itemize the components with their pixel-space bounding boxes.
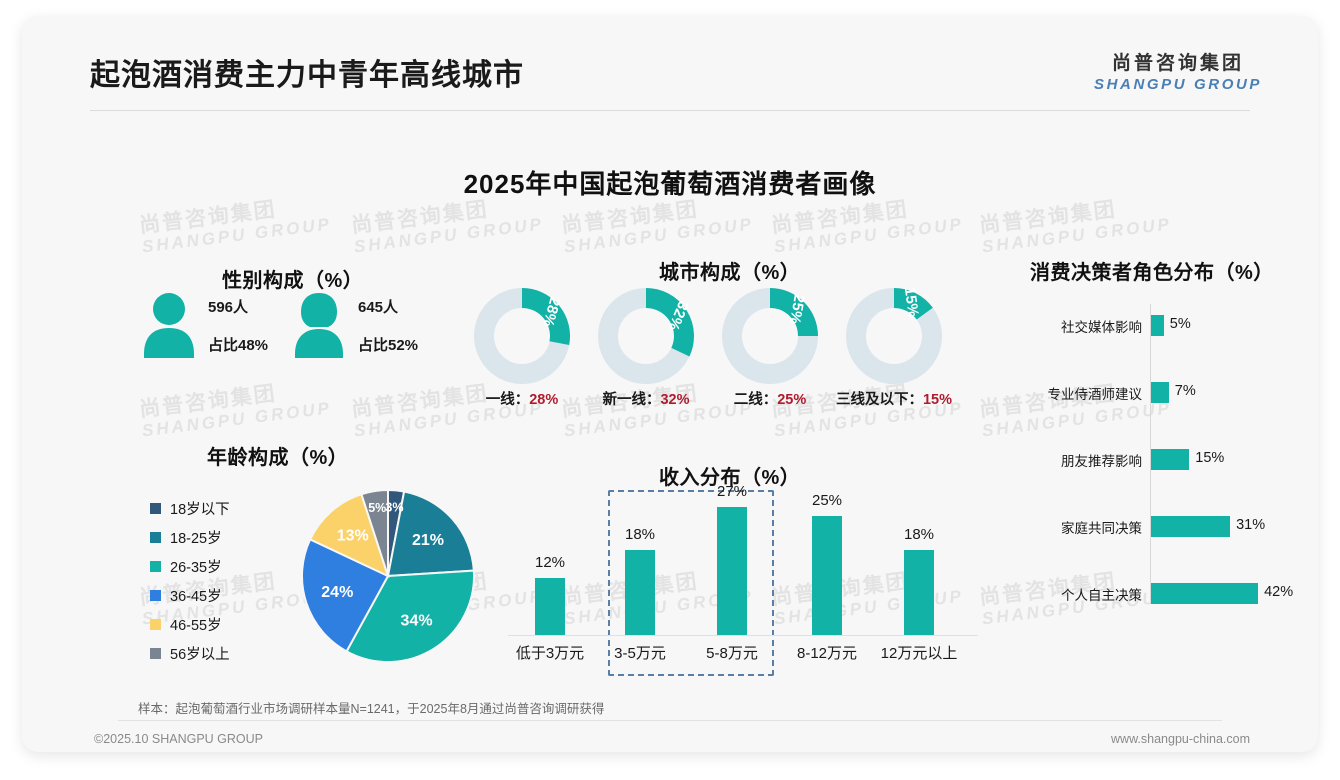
age-legend: 18岁以下18-25岁26-35岁36-45岁46-55岁56岁以上 <box>150 494 230 668</box>
gender-section: 596人 占比48% 645人 占比52% <box>122 254 462 374</box>
decision-label-3: 朋友推荐影响 <box>1061 450 1142 470</box>
slide-card: 尚普咨询集团SHANGPU GROUP尚普咨询集团SHANGPU GROUP尚普… <box>22 16 1318 752</box>
city-name: 三线及以下： <box>836 392 923 408</box>
legend-swatch-icon <box>150 503 161 514</box>
legend-swatch-icon <box>150 532 161 543</box>
gender-male-count: 596人 <box>208 296 268 317</box>
income-bar-1 <box>535 578 565 635</box>
pie-value-label-2: 21% <box>412 532 444 549</box>
income-value-label-4: 25% <box>812 492 842 509</box>
income-value-label-2: 18% <box>625 526 655 543</box>
pie-value-label-4: 24% <box>321 584 353 601</box>
copyright-text: ©2025.10 SHANGPU GROUP <box>94 732 263 746</box>
donut-gauge: 25% <box>722 288 818 384</box>
city-donut-label: 一线：28% <box>486 388 559 409</box>
age-pie-chart: 3%21%34%24%13%5% <box>298 486 478 666</box>
legend-swatch-icon <box>150 590 161 601</box>
decision-label-2: 专业侍酒师建议 <box>1048 383 1143 403</box>
age-legend-item-2: 18-25岁 <box>150 523 230 552</box>
legend-label: 36-45岁 <box>170 585 222 606</box>
age-legend-item-5: 46-55岁 <box>150 610 230 639</box>
decision-value-5: 42% <box>1264 584 1293 600</box>
city-value: 15% <box>923 392 952 408</box>
legend-label: 46-55岁 <box>170 614 222 635</box>
decision-row-4: 家庭共同决策31% <box>1022 513 1318 539</box>
decision-label-1: 社交媒体影响 <box>1061 316 1142 336</box>
income-baseline <box>508 635 978 636</box>
donut-gauge: 32% <box>598 288 694 384</box>
donut-gauge: 15% <box>846 288 942 384</box>
income-value-label-3: 27% <box>717 483 747 500</box>
pie-value-label-3: 34% <box>401 613 433 630</box>
legend-swatch-icon <box>150 619 161 630</box>
income-bar-5 <box>904 550 934 636</box>
male-silhouette-icon <box>142 292 196 358</box>
slide-header: 起泡酒消费主力中青年高线城市 尚普咨询集团 SHANGPU GROUP <box>22 48 1318 114</box>
watermark: 尚普咨询集团SHANGPU GROUP <box>560 193 755 257</box>
decision-value-2: 7% <box>1175 383 1196 399</box>
age-section: 18岁以下18-25岁26-35岁36-45岁46-55岁56岁以上 3%21%… <box>130 476 470 676</box>
legend-label: 26-35岁 <box>170 556 222 577</box>
decision-row-2: 专业侍酒师建议7% <box>1022 379 1318 405</box>
city-donut-label: 新一线：32% <box>602 388 689 409</box>
income-bar-2 <box>625 550 655 636</box>
income-section: 12%低于3万元18%3-5万元27%5-8万元25%8-12万元18%12万元… <box>492 456 992 686</box>
main-title: 2025年中国起泡葡萄酒消费者画像 <box>22 164 1318 201</box>
decision-row-5: 个人自主决策42% <box>1022 580 1318 606</box>
watermark: 尚普咨询集团SHANGPU GROUP <box>138 377 333 441</box>
legend-label: 56岁以上 <box>170 643 230 664</box>
logo-text-en: SHANGPU GROUP <box>1094 76 1262 93</box>
city-section-title: 城市构成（%） <box>659 256 800 285</box>
page-title: 起泡酒消费主力中青年高线城市 <box>90 50 524 94</box>
watermark: 尚普咨询集团SHANGPU GROUP <box>138 193 333 257</box>
logo-text-cn: 尚普咨询集团 <box>1094 48 1262 75</box>
city-value: 28% <box>529 392 558 408</box>
city-donut-2: 32%新一线：32% <box>598 288 694 389</box>
gender-female-share: 占比52% <box>358 334 418 355</box>
legend-label: 18岁以下 <box>170 498 230 519</box>
decision-bar-5 <box>1151 583 1258 604</box>
city-donut-3: 25%二线：25% <box>722 288 818 389</box>
age-section-title: 年龄构成（%） <box>207 441 348 470</box>
city-value: 25% <box>777 392 806 408</box>
decision-value-1: 5% <box>1170 316 1191 332</box>
decision-value-3: 15% <box>1195 450 1224 466</box>
sample-note: 样本：起泡葡萄酒行业市场调研样本量N=1241，于2025年8月通过尚普咨询调研… <box>138 698 604 717</box>
watermark: 尚普咨询集团SHANGPU GROUP <box>770 193 965 257</box>
age-legend-item-1: 18岁以下 <box>150 494 230 523</box>
city-name: 新一线： <box>602 392 660 408</box>
watermark: 尚普咨询集团SHANGPU GROUP <box>350 193 545 257</box>
gender-male-text: 596人 占比48% <box>208 296 268 355</box>
footer-divider <box>118 720 1222 721</box>
income-value-label-1: 12% <box>535 554 565 571</box>
brand-logo: 尚普咨询集团 SHANGPU GROUP <box>1094 48 1262 93</box>
age-legend-item-3: 26-35岁 <box>150 552 230 581</box>
decision-label-5: 个人自主决策 <box>1061 584 1142 604</box>
decision-section: 社交媒体影响5%专业侍酒师建议7%朋友推荐影响15%家庭共同决策31%个人自主决… <box>1022 304 1318 604</box>
female-silhouette-icon <box>292 292 346 358</box>
age-legend-item-4: 36-45岁 <box>150 581 230 610</box>
gender-female-text: 645人 占比52% <box>358 296 418 355</box>
age-legend-item-6: 56岁以上 <box>150 639 230 668</box>
city-name: 二线： <box>734 392 778 408</box>
income-bar-3 <box>717 507 747 635</box>
decision-row-3: 朋友推荐影响15% <box>1022 446 1318 472</box>
decision-value-4: 31% <box>1236 517 1265 533</box>
decision-bar-3 <box>1151 449 1189 470</box>
city-donut-label: 三线及以下：15% <box>836 388 952 409</box>
svg-text:15%: 15% <box>901 288 922 318</box>
city-donut-4: 15%三线及以下：15% <box>846 288 942 389</box>
decision-bar-2 <box>1151 382 1169 403</box>
decision-bar-1 <box>1151 315 1164 336</box>
donut-gauge: 28% <box>474 288 570 384</box>
city-value: 32% <box>660 392 689 408</box>
decision-bar-4 <box>1151 516 1230 537</box>
city-donut-1: 28%一线：28% <box>474 288 570 389</box>
decision-section-title: 消费决策者角色分布（%） <box>1030 256 1274 285</box>
decision-row-1: 社交媒体影响5% <box>1022 312 1318 338</box>
decision-label-4: 家庭共同决策 <box>1061 517 1142 537</box>
income-category-label-5: 12万元以上 <box>881 642 958 663</box>
income-category-label-1: 低于3万元 <box>516 642 584 663</box>
income-category-label-2: 3-5万元 <box>614 642 666 663</box>
income-category-label-4: 8-12万元 <box>797 642 857 663</box>
city-donut-label: 二线：25% <box>734 388 807 409</box>
pie-value-label-1: 3% <box>385 501 403 515</box>
header-divider <box>90 110 1250 111</box>
pie-value-label-6: 5% <box>368 501 386 515</box>
legend-swatch-icon <box>150 648 161 659</box>
gender-male-share: 占比48% <box>208 334 268 355</box>
website-text: www.shangpu-china.com <box>1111 732 1250 746</box>
gender-female-count: 645人 <box>358 296 418 317</box>
city-name: 一线： <box>486 392 530 408</box>
watermark: 尚普咨询集团SHANGPU GROUP <box>978 193 1173 257</box>
income-category-label-3: 5-8万元 <box>706 642 758 663</box>
income-value-label-5: 18% <box>904 526 934 543</box>
income-bar-4 <box>812 516 842 635</box>
legend-swatch-icon <box>150 561 161 572</box>
legend-label: 18-25岁 <box>170 527 222 548</box>
pie-value-label-5: 13% <box>337 528 369 545</box>
